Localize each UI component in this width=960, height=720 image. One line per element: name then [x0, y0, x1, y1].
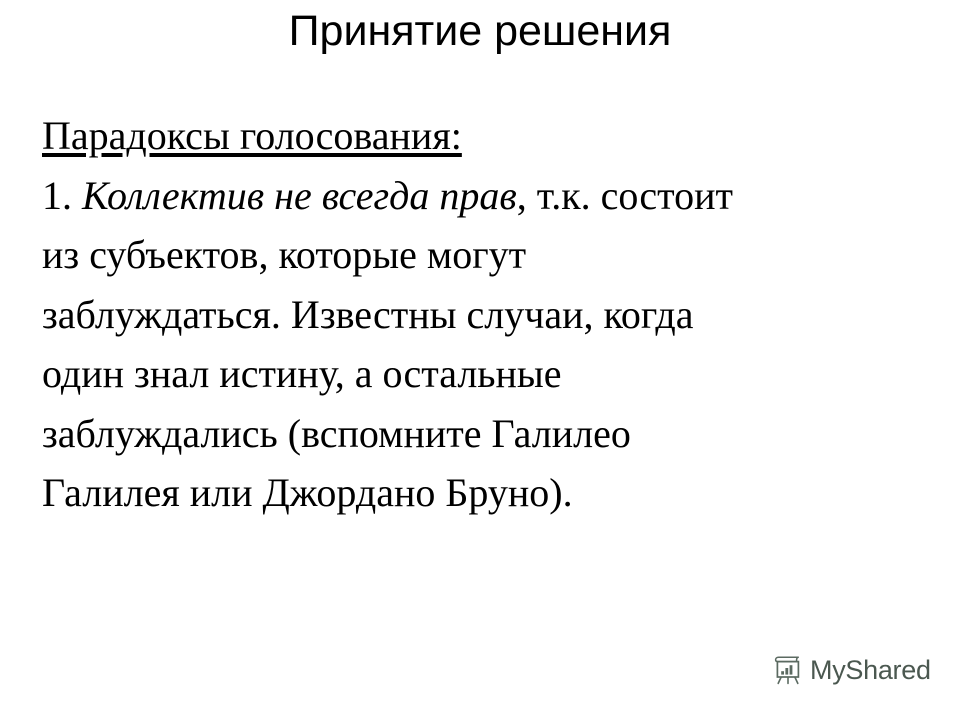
body-line-4-text: один знал истину, а остальные [42, 351, 562, 396]
body-line-1: 1. Коллектив не всегда прав, т.к. состои… [42, 166, 942, 226]
body-line-2: из субъектов, которые могут [42, 225, 942, 285]
body-line-6: Галилея или Джордано Бруно). [42, 463, 942, 523]
body-line-3: заблуждаться. Известны случаи, когда [42, 285, 942, 345]
body-heading-line: Парадоксы голосования: [42, 106, 942, 166]
body-line-1-number: 1. [42, 173, 82, 218]
body-line-4: один знал истину, а остальные [42, 344, 942, 404]
slide-body-text: Парадоксы голосования: 1. Коллектив не в… [42, 106, 942, 523]
body-line-2-text: из субъектов, которые могут [42, 232, 526, 277]
myshared-watermark: MyShared [772, 654, 931, 686]
body-line-6-text: Галилея или Джордано Бруно). [42, 470, 573, 515]
body-line-3-text: заблуждаться. Известны случаи, когда [42, 292, 693, 337]
presentation-slide: Принятие решения Парадоксы голосования: … [0, 0, 960, 720]
body-line-1-rest: , т.к. состоит [517, 173, 733, 218]
page-title: Принятие решения [0, 6, 960, 56]
body-line-5-text: заблуждались (вспомните Галилео [42, 411, 631, 456]
flipchart-chart-icon [772, 654, 804, 686]
body-heading: Парадоксы голосования: [42, 113, 462, 158]
body-line-1-emphasis: Коллектив не всегда прав [82, 173, 517, 218]
body-line-5: заблуждались (вспомните Галилео [42, 404, 942, 464]
myshared-label: MyShared [810, 655, 931, 685]
